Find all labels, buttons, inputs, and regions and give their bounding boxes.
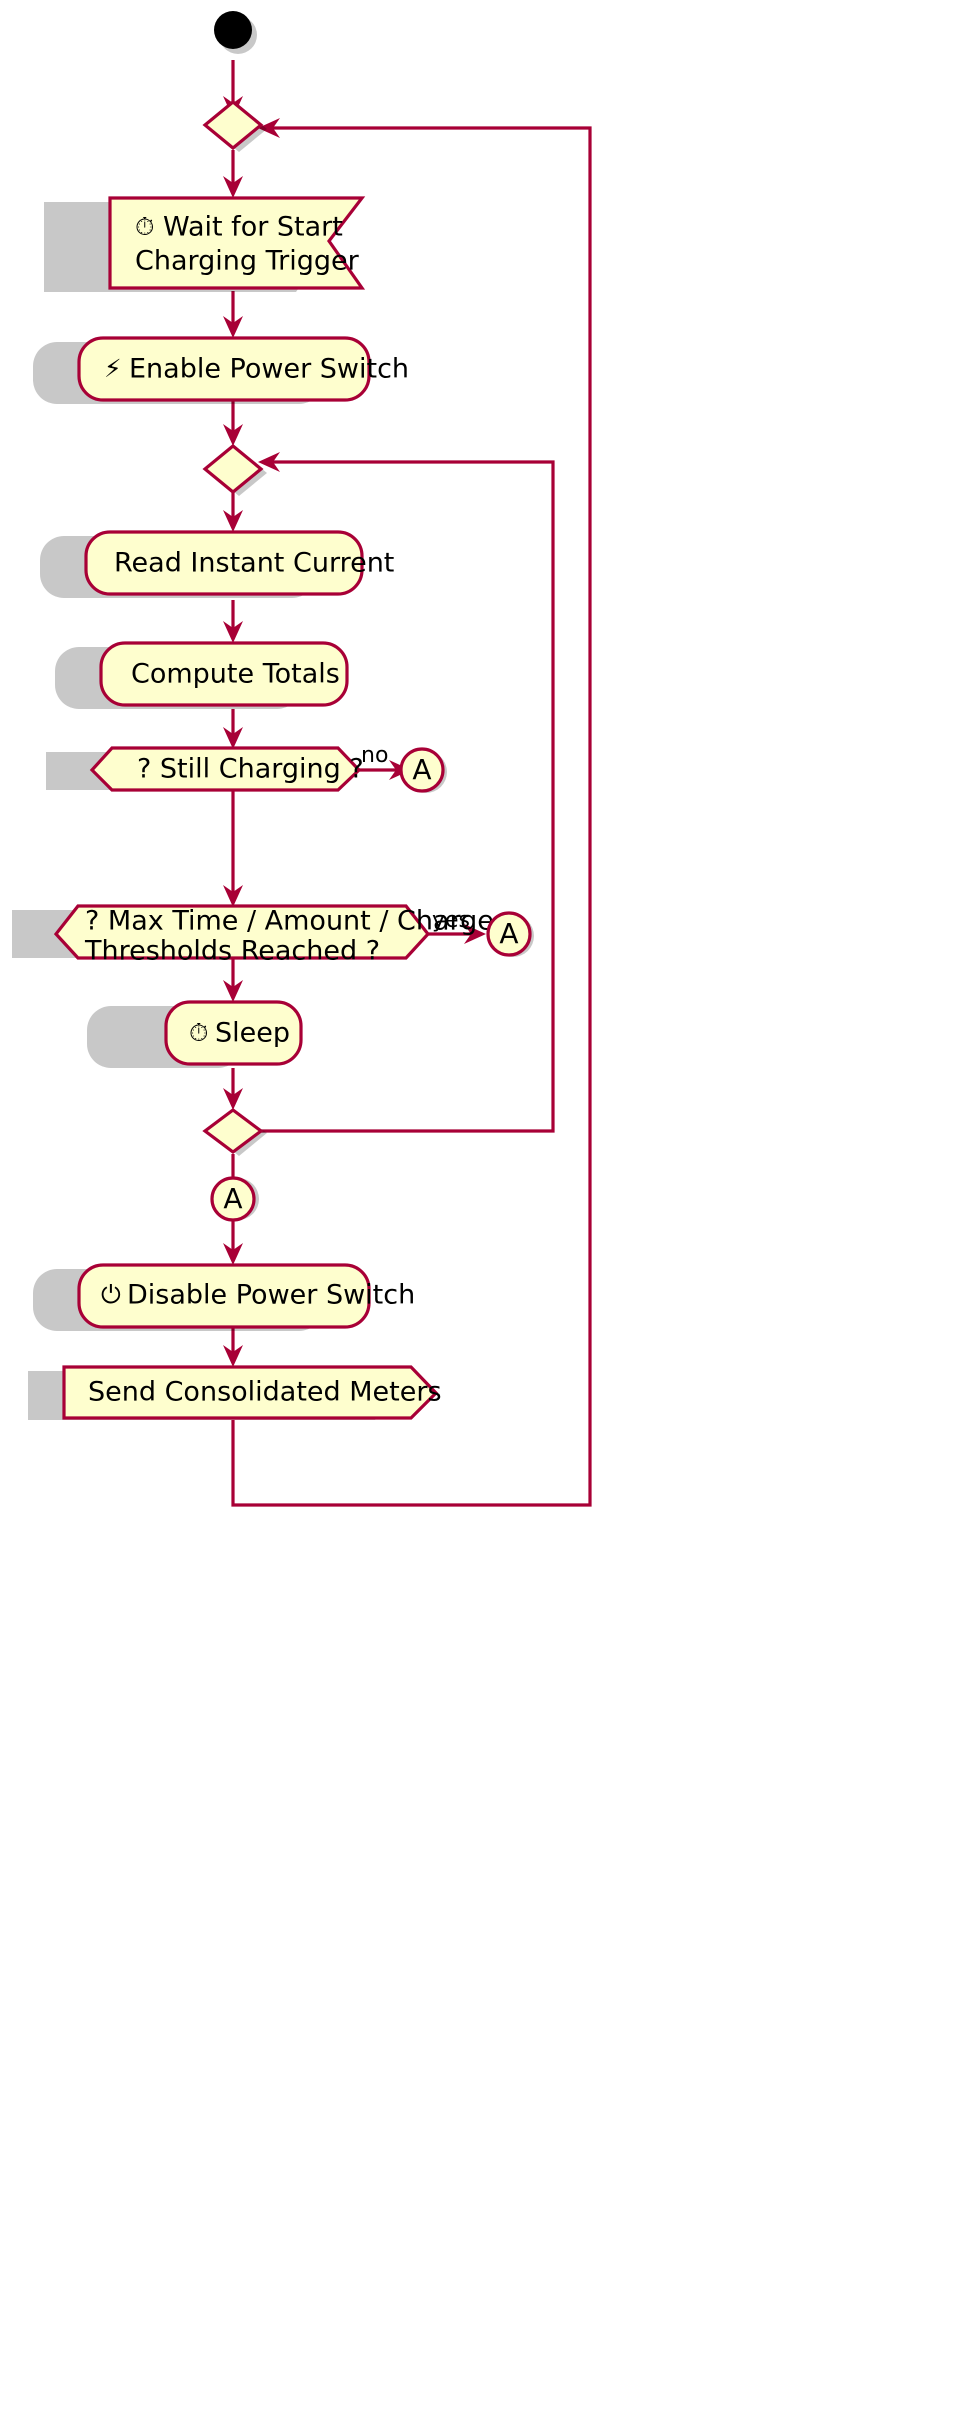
activity-sleep-label: Sleep bbox=[215, 1018, 290, 1049]
power-icon: ⏻ bbox=[101, 1280, 121, 1309]
edge-label-no: no bbox=[361, 743, 388, 768]
edge-label-yes: yes bbox=[432, 908, 470, 933]
decision-thresholds-label-line2: Thresholds Reached ? bbox=[84, 936, 380, 967]
activity-send-consolidated-meters-label: Send Consolidated Meters bbox=[88, 1377, 442, 1408]
merge-diamond-outer bbox=[205, 102, 261, 148]
activity-diagram-canvas: ⏱ Wait for Start Charging Trigger ⚡ Enab… bbox=[0, 0, 968, 2413]
activity-wait-label-line2: Charging Trigger bbox=[135, 246, 360, 277]
stopwatch-icon-sleep: ⏱ bbox=[189, 1018, 209, 1047]
connector-a-no-branch-label: A bbox=[412, 753, 431, 786]
activity-wait-label-line1: Wait for Start bbox=[163, 212, 343, 243]
lightning-bolt-icon: ⚡ bbox=[104, 354, 122, 383]
activity-enable-power-switch-label: Enable Power Switch bbox=[129, 354, 409, 385]
stopwatch-icon: ⏱ bbox=[135, 212, 155, 241]
nodes-layer: ⏱ Wait for Start Charging Trigger ⚡ Enab… bbox=[56, 11, 530, 1418]
connector-a-yes-branch-label: A bbox=[499, 917, 518, 950]
merge-diamond-loop-back bbox=[205, 1110, 261, 1152]
merge-diamond-inner bbox=[205, 446, 261, 492]
activity-compute-totals-label: Compute Totals bbox=[131, 659, 340, 690]
start-node bbox=[214, 11, 252, 49]
activity-diagram-root: ⏱ Wait for Start Charging Trigger ⚡ Enab… bbox=[0, 0, 968, 2413]
decision-still-charging-label: ? Still Charging ? bbox=[137, 754, 364, 785]
activity-disable-power-switch-label: Disable Power Switch bbox=[127, 1280, 415, 1311]
activity-read-instant-current-label: Read Instant Current bbox=[114, 548, 394, 579]
connector-a-target-label: A bbox=[223, 1182, 242, 1215]
